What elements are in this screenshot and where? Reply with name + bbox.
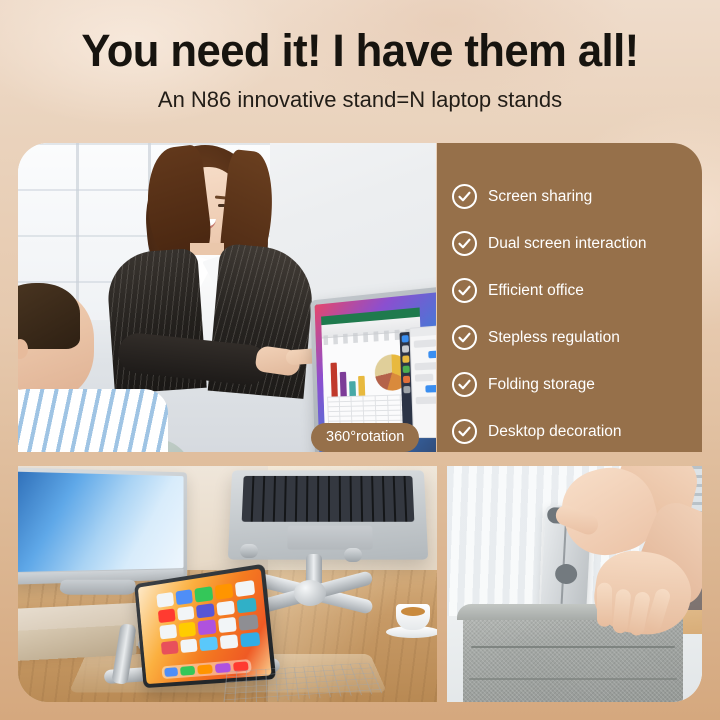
header: You need it! I have them all! An N86 inn… <box>0 0 720 140</box>
feature-list: Screen sharing Dual screen interaction E… <box>437 143 702 452</box>
bar-chart <box>329 356 365 398</box>
page-title: You need it! I have them all! <box>11 28 709 73</box>
feature-item-desktop-decoration[interactable]: Desktop decoration <box>452 408 702 452</box>
tablet-screen <box>138 568 272 684</box>
feature-item-screen-sharing[interactable]: Screen sharing <box>452 173 702 220</box>
feature-item-efficient-office[interactable]: Efficient office <box>452 267 702 314</box>
monitor-screen <box>18 472 184 572</box>
feature-panel: Screen sharing Dual screen interaction E… <box>437 143 702 452</box>
laptop-trackpad <box>287 526 372 550</box>
check-circle-icon <box>452 325 477 350</box>
tablet-app-grid <box>157 580 261 655</box>
stand-base-hub <box>294 580 326 606</box>
bag-seam-top <box>471 646 675 648</box>
desk-photo-card <box>18 466 437 702</box>
bag-seam-bottom <box>469 678 677 680</box>
hero-photo-card <box>18 143 436 452</box>
feature-item-folding-storage[interactable]: Folding storage <box>452 361 702 408</box>
stand-pad-center <box>555 563 578 584</box>
feature-label: Dual screen interaction <box>488 235 647 253</box>
feature-item-stepless-regulation[interactable]: Stepless regulation <box>452 314 702 361</box>
check-circle-icon <box>452 372 477 397</box>
feature-item-dual-screen-interaction[interactable]: Dual screen interaction <box>452 220 702 267</box>
chat-window <box>409 325 436 438</box>
stand-clip-right <box>344 548 362 562</box>
feature-label: Desktop decoration <box>488 423 622 441</box>
laptop-keyboard <box>242 476 415 522</box>
check-circle-icon <box>452 184 477 209</box>
check-circle-icon <box>452 231 477 256</box>
feature-label: Screen sharing <box>488 188 592 206</box>
feature-label: Stepless regulation <box>488 329 620 347</box>
stand-clip-left <box>240 544 258 558</box>
check-circle-icon <box>452 419 477 444</box>
check-circle-icon <box>452 278 477 303</box>
page-subtitle: An N86 innovative stand=N laptop stands <box>0 87 720 113</box>
feature-label: Efficient office <box>488 282 584 300</box>
coffee-cup <box>396 604 430 630</box>
bag-photo-card <box>447 466 702 702</box>
laptop-on-stand <box>228 470 428 559</box>
rotation-badge: 360°rotation <box>311 423 419 452</box>
monitor-stand <box>59 580 138 595</box>
monitor <box>18 467 187 584</box>
feature-label: Folding storage <box>488 376 595 394</box>
man-shirt <box>18 389 168 452</box>
